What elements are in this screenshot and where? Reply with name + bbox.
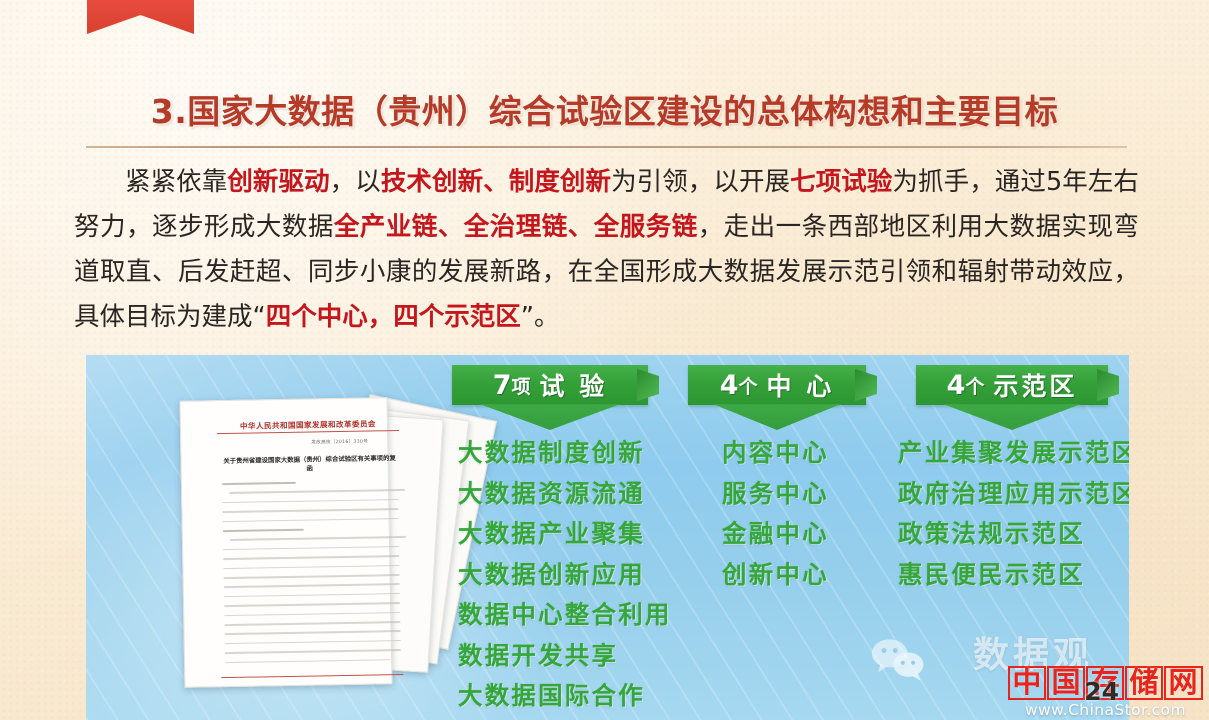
document-text-line — [222, 508, 398, 513]
document-body-lines — [222, 480, 398, 483]
banner-label: 中 心 — [767, 367, 835, 403]
banner-text: 4个示范区 — [916, 365, 1108, 405]
list-item: 数据开发共享 — [458, 636, 672, 677]
document-photo: 附件 抄送 印发 中华人民共和国国家发展和改革委员会 发改高技〔2016〕330… — [158, 393, 458, 693]
site-name-char: 储 — [1125, 666, 1163, 700]
paragraph-highlight: 技术创新、制度创新 — [381, 167, 611, 197]
document-text-line — [224, 574, 400, 579]
document-text-line — [225, 630, 401, 635]
document-footer-rule — [221, 674, 403, 678]
site-name-char: 网 — [1164, 666, 1202, 700]
banner-arrow — [713, 404, 841, 430]
title-divider — [86, 146, 1127, 148]
list-column-trials: 大数据制度创新大数据资源流通大数据产业聚集大数据创新应用数据中心整合利用数据开发… — [458, 433, 672, 717]
document-text-line — [223, 565, 399, 570]
document-text-line — [225, 659, 390, 663]
banner-arrow — [479, 404, 620, 430]
banner-label: 示范区 — [993, 367, 1077, 403]
document-text-line — [224, 602, 400, 607]
site-name-char: 中 — [1008, 666, 1046, 700]
list-column-demo-zones: 产业集聚发展示范区政府治理应用示范区政策法规示范区惠民便民示范区 — [898, 433, 1129, 595]
document-text-line — [223, 529, 304, 532]
document-text-line — [222, 499, 398, 504]
document-text-line — [224, 612, 400, 617]
content-panel: 附件 抄送 印发 中华人民共和国国家发展和改革委员会 发改高技〔2016〕330… — [86, 355, 1129, 720]
document-text-line — [222, 482, 296, 485]
wechat-icon — [869, 636, 929, 682]
document-reference-number: 发改高技〔2016〕330号 — [311, 439, 368, 446]
list-item: 产业集聚发展示范区 — [898, 433, 1129, 474]
paragraph-highlight: 全产业链、全治理链、全服务链 — [334, 212, 698, 242]
banner-label: 试 验 — [540, 367, 608, 403]
paragraph-text: 紧紧依靠 — [125, 167, 227, 197]
list-item: 创新中心 — [722, 555, 829, 596]
list-item: 金融中心 — [722, 514, 829, 555]
page-number: 24 — [1084, 677, 1119, 706]
banner-number: 4 — [720, 370, 739, 401]
banner-centers: 4个中 心 — [688, 365, 866, 405]
banner-trials: 7项试 验 — [452, 365, 648, 405]
red-ribbon-decoration — [87, 0, 194, 34]
document-text-line — [230, 536, 406, 541]
list-column-centers: 内容中心服务中心金融中心创新中心 — [722, 433, 829, 595]
banner-unit: 个 — [739, 372, 758, 399]
list-item: 大数据国际合作 — [458, 676, 672, 717]
body-paragraph: 紧紧依靠创新驱动，以技术创新、制度创新为引领，以开展七项试验为抓手，通过5年左右… — [74, 160, 1139, 340]
page-title: 3.国家大数据（贵州）综合试验区建设的总体构想和主要目标 — [0, 92, 1209, 132]
list-item: 内容中心 — [722, 433, 829, 474]
document-text-line — [225, 649, 401, 654]
list-item: 服务中心 — [722, 474, 829, 515]
list-item: 大数据产业聚集 — [458, 514, 672, 555]
document-text-line — [225, 640, 401, 645]
banner-number: 4 — [947, 370, 966, 401]
list-item: 政策法规示范区 — [898, 514, 1129, 555]
banner-arrow — [943, 404, 1081, 430]
list-item: 大数据创新应用 — [458, 555, 672, 596]
document-text-line — [223, 555, 399, 560]
title-area: 3.国家大数据（贵州）综合试验区建设的总体构想和主要目标 — [0, 92, 1209, 132]
banner-text: 4个中 心 — [688, 365, 866, 405]
paragraph-highlight: 创新驱动 — [227, 167, 329, 197]
document-text-line — [223, 546, 399, 551]
document-text-line — [224, 583, 400, 588]
paragraph-text: ，以 — [330, 167, 381, 197]
document-subject-line: 关于贵州省建设国家大数据（贵州）综合试验区有关事项的复函 — [221, 454, 397, 475]
paragraph-highlight: 四个中心，四个示范区 — [266, 302, 521, 332]
banner-text: 7项试 验 — [452, 365, 648, 405]
banner-demo-zones: 4个示范区 — [916, 365, 1108, 405]
banner-unit: 个 — [965, 372, 984, 399]
paragraph-text: 为引领，以开展 — [611, 167, 790, 197]
presentation-slide: 3.国家大数据（贵州）综合试验区建设的总体构想和主要目标 紧紧依靠创新驱动，以技… — [0, 0, 1209, 720]
list-item: 惠民便民示范区 — [898, 555, 1129, 596]
list-item: 政府治理应用示范区 — [898, 474, 1129, 515]
document-text-line — [224, 621, 400, 626]
list-item: 大数据制度创新 — [458, 433, 672, 474]
document-text-line — [229, 489, 405, 494]
document-text-line — [224, 593, 400, 598]
banner-number: 7 — [493, 370, 512, 401]
document-text-line — [223, 518, 399, 523]
document-sheet-front: 中华人民共和国国家发展和改革委员会 发改高技〔2016〕330号 关于贵州省建设… — [180, 397, 393, 688]
banner-unit: 项 — [512, 372, 531, 399]
paragraph-text: ”。 — [521, 302, 560, 332]
paragraph-highlight: 七项试验 — [790, 167, 892, 197]
site-name-char: 国 — [1047, 666, 1085, 700]
list-item: 数据中心整合利用 — [458, 595, 672, 636]
list-item: 大数据资源流通 — [458, 474, 672, 515]
